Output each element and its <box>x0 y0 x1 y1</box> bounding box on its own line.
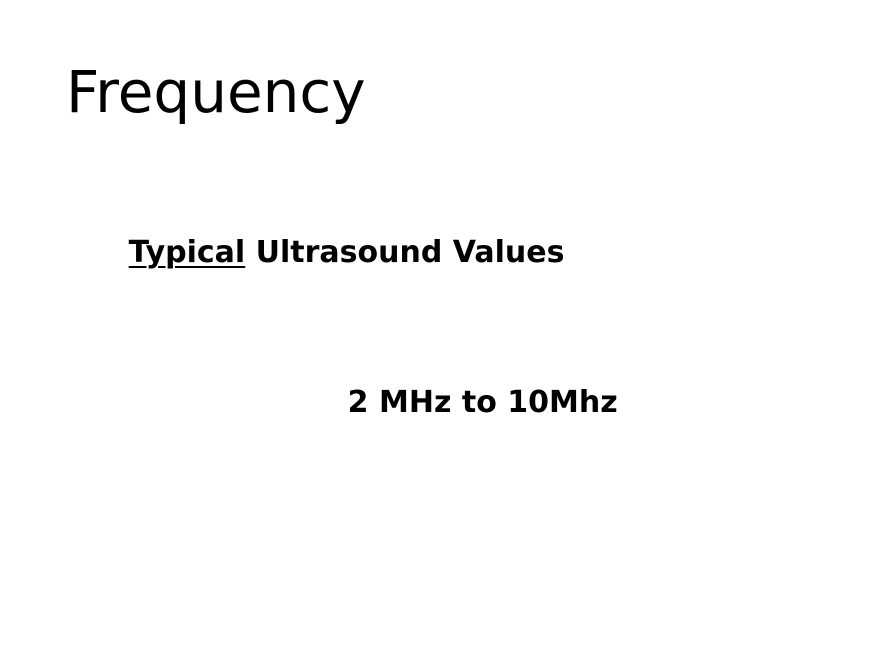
page-title: Frequency <box>66 62 826 123</box>
body-line-text-frequency-range: 2 MHz to 10Mhz <box>348 385 618 420</box>
body-line-frequency-range: 2 MHz to 10Mhz <box>66 328 846 478</box>
body-line-typical-ultrasound-values: Typical Ultrasound Values <box>66 178 846 328</box>
slide: Frequency Typical Ultrasound Values 2 MH… <box>0 0 880 660</box>
body-line-emphasis-typical: Typical <box>129 235 246 270</box>
slide-body: Typical Ultrasound Values 2 MHz to 10Mhz <box>66 178 846 478</box>
body-line-text-ultrasound-values: Ultrasound Values <box>245 235 564 270</box>
